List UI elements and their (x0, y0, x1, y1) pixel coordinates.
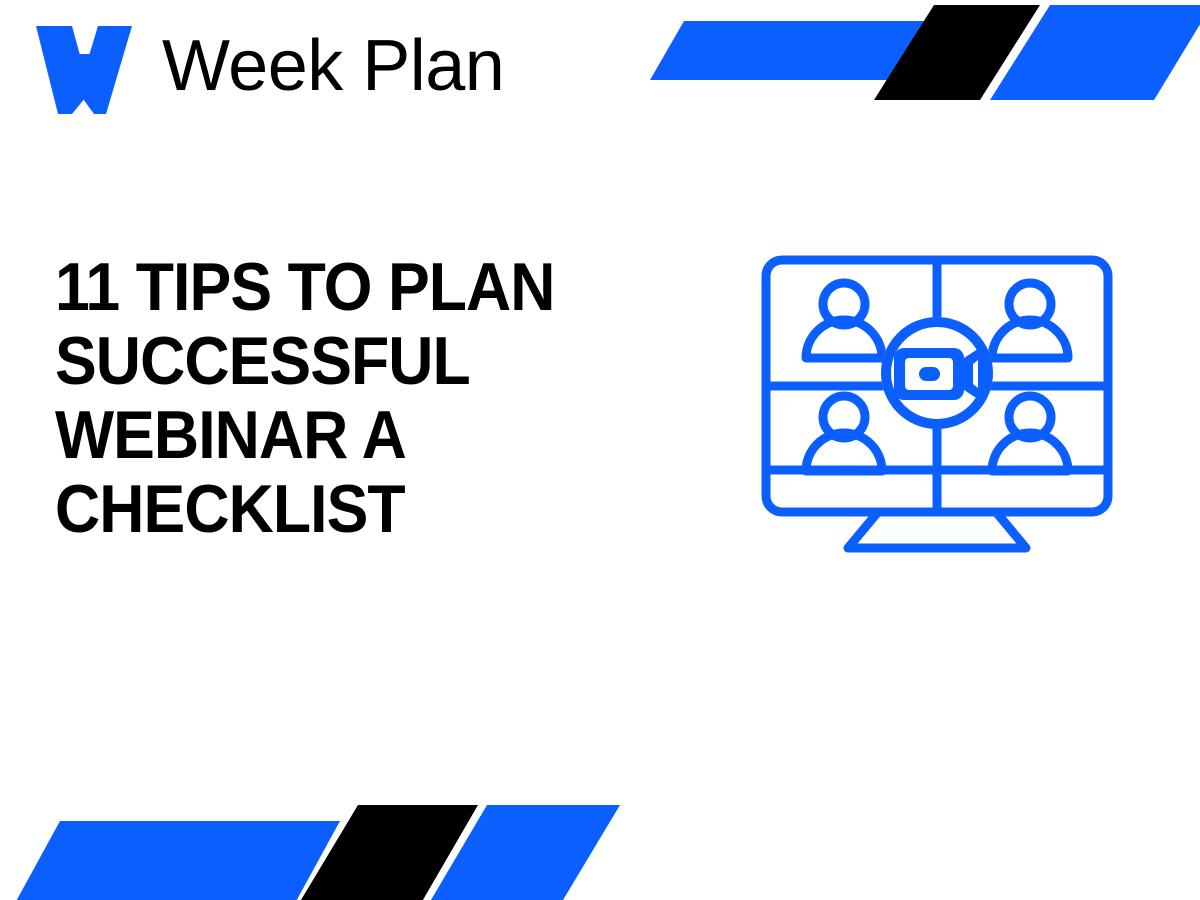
person-avatar-icon (806, 283, 882, 358)
monitor-stand-base (848, 512, 1026, 548)
person-avatar-icon (992, 283, 1068, 358)
page-title-line-1: 11 TIPS TO PLAN (55, 250, 625, 324)
person-avatar-icon (992, 396, 1068, 471)
page-title-line-4: CHECKLIST (55, 472, 625, 546)
page-title-line-2: SUCCESSFUL (55, 324, 625, 398)
center-badge (881, 317, 993, 429)
brand-header[interactable]: Week Plan (28, 18, 504, 114)
page-title-line-3: WEBINAR A (55, 398, 625, 472)
week-plan-w-logo-icon (28, 18, 140, 114)
webinar-video-conference-monitor-icon (752, 246, 1122, 566)
person-avatar-icon (806, 396, 882, 471)
ribbon-bar-blue-long-icon (14, 821, 340, 900)
parallelogram-ribbon-top-right (640, 0, 1200, 110)
parallelogram-ribbon-bottom-left (0, 795, 620, 900)
page-title: 11 TIPS TO PLAN SUCCESSFUL WEBINAR A CHE… (55, 250, 675, 546)
poster-canvas: Week Plan 11 TIPS TO PLAN SUCCESSFUL WEB… (0, 0, 1200, 900)
brand-name-label: Week Plan (162, 30, 504, 102)
webinar-illustration (752, 246, 1122, 566)
ribbon-bar-blue-long-icon (650, 21, 930, 80)
